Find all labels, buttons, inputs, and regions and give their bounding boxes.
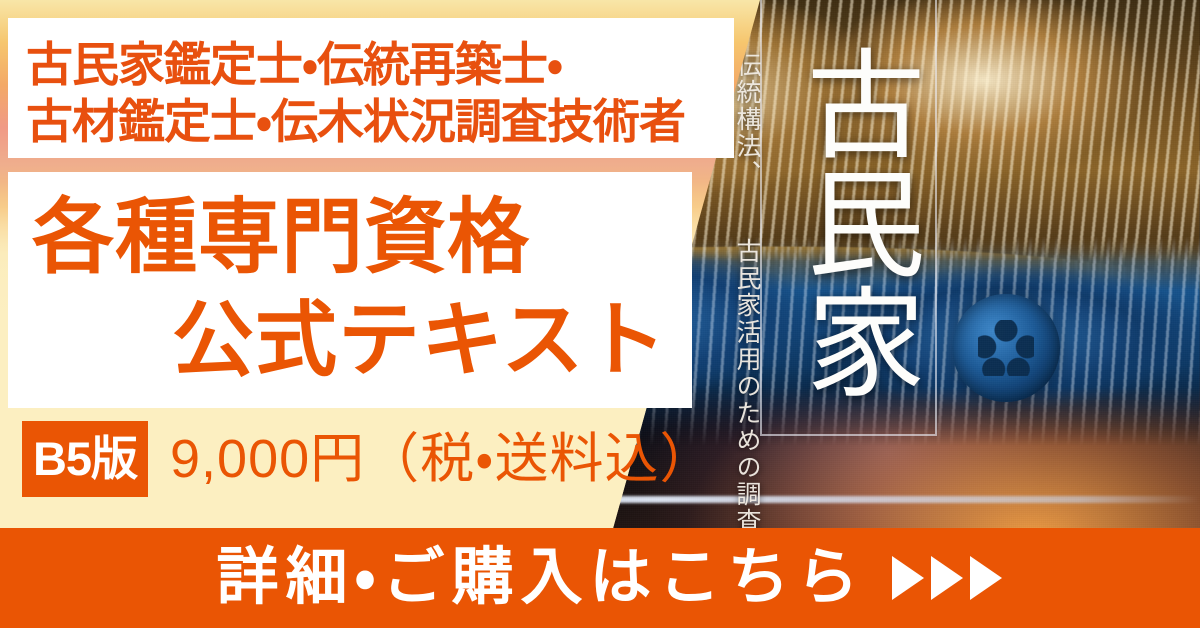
chevron-right-icon [892,556,924,600]
book-cover-title: 古民家 [772,6,922,436]
qualifications-line-2: 古材鑑定士・伝木状況調査技術者 [26,93,726,150]
cta-arrows [892,556,1002,600]
family-crest-icon [952,294,1060,402]
cta-bar[interactable]: 詳細・ご購入はこちら [0,528,1200,628]
qualifications-card: 古民家鑑定士・伝統再築士・ 古材鑑定士・伝木状況調査技術者 [8,18,734,158]
chevron-right-icon [931,556,963,600]
headline-line-1: 各種専門資格 [8,186,692,289]
chevron-right-icon [970,556,1002,600]
qualifications-line-1: 古民家鑑定士・伝統再築士・ [26,38,562,91]
price-text: 9,000円（税・送料込） [170,421,715,497]
promo-banner: 伝統構法、 古民家活用のための調査と再生の 古民家 古民家鑑定士・伝統再築士・ … [0,0,1200,628]
main-headline: 各種専門資格 公式テキスト [8,186,692,393]
qualifications-heading: 古民家鑑定士・伝統再築士・ 古材鑑定士・伝木状況調査技術者 [26,36,726,151]
headline-line-2: 公式テキスト [8,289,692,392]
cta-label: 詳細・ご購入はこちら [198,547,865,609]
headline-card: 各種専門資格 公式テキスト [8,172,692,408]
size-badge: B5版 [22,421,148,497]
